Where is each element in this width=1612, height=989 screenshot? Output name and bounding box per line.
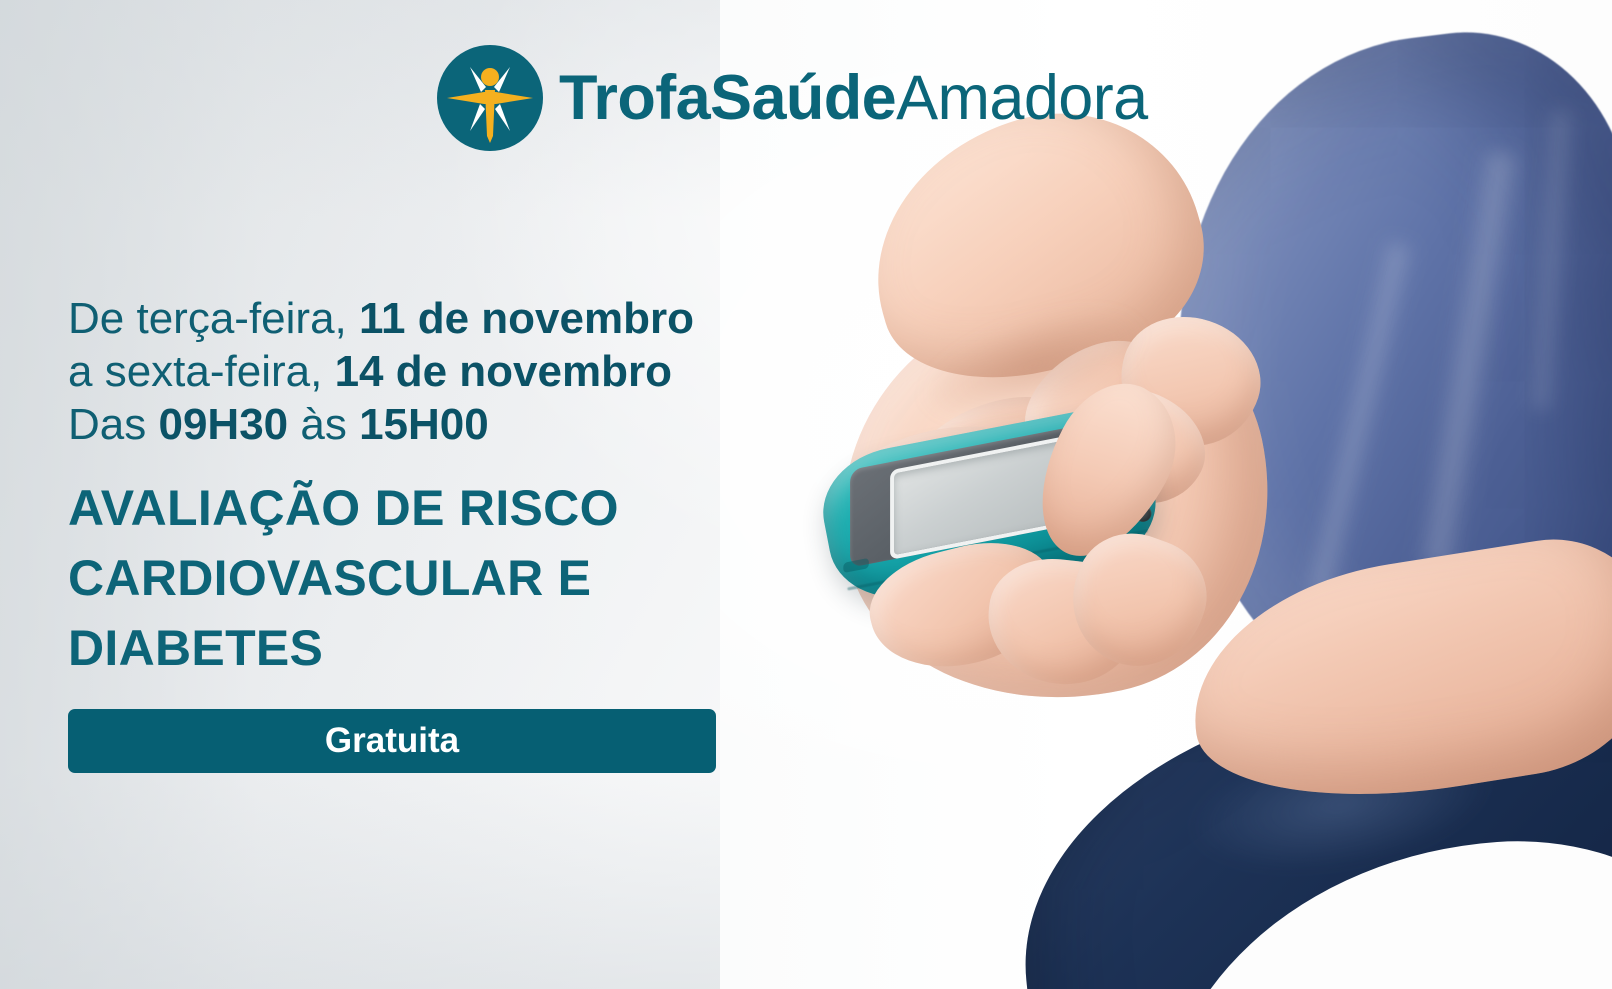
- schedule-text: De terça-feira, 11 de novembro a sexta-f…: [68, 292, 728, 451]
- schedule-end-time: 15H00: [359, 400, 489, 449]
- gratuita-button[interactable]: Gratuita: [68, 709, 716, 773]
- schedule-line3-plain-a: Das: [68, 400, 158, 449]
- schedule-line2-date: 14 de novembro: [335, 347, 672, 396]
- headline-line-3: DIABETES: [68, 620, 323, 676]
- trofasaude-figure-star-icon: [437, 45, 543, 151]
- page-title: AVALIAÇÃO DE RISCO CARDIOVASCULAR E DIAB…: [68, 473, 728, 683]
- schedule-line3-plain-b: às: [288, 400, 359, 449]
- brand-logo-lockup[interactable]: TrofaSaúdeAmadora: [437, 45, 1148, 151]
- brand-name-light: Amadora: [896, 63, 1147, 133]
- copy-block: De terça-feira, 11 de novembro a sexta-f…: [68, 292, 728, 773]
- brand-wordmark: TrofaSaúdeAmadora: [559, 67, 1148, 130]
- promo-banner: TrofaSaúdeAmadora De terça-feira, 11 de …: [0, 0, 1612, 989]
- brand-name-bold: TrofaSaúde: [559, 63, 896, 133]
- schedule-line1-date: 11 de novembro: [359, 294, 694, 343]
- headline-line-1: AVALIAÇÃO DE RISCO: [68, 480, 619, 536]
- schedule-line2-plain: a sexta-feira,: [68, 347, 335, 396]
- headline-line-2: CARDIOVASCULAR E: [68, 550, 591, 606]
- schedule-line1-plain: De terça-feira,: [68, 294, 359, 343]
- schedule-start-time: 09H30: [158, 400, 288, 449]
